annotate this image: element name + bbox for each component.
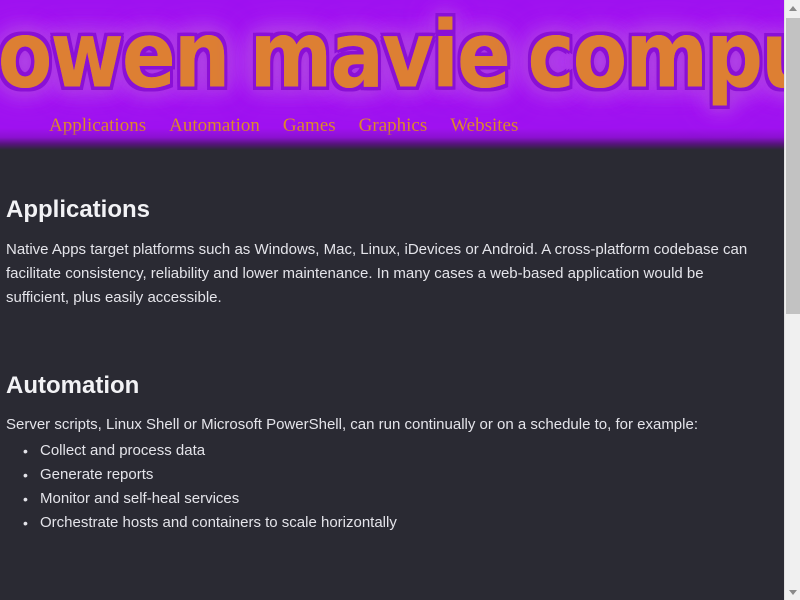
nav-item-websites[interactable]: Websites — [450, 115, 518, 137]
site-logo[interactable]: owenmaviecomputing — [0, 2, 784, 110]
section-applications: Applications Native Apps target platform… — [6, 150, 768, 310]
triangle-up-icon — [789, 6, 797, 11]
scrollbar-down-button[interactable] — [785, 584, 800, 600]
automation-task-list: Collect and process data Generate report… — [6, 437, 768, 535]
site-banner: owenmaviecomputing Applications Automati… — [0, 0, 784, 150]
main-content: Applications Native Apps target platform… — [0, 150, 784, 535]
main-navigation: Applications Automation Games Graphics W… — [49, 112, 518, 140]
triangle-down-icon — [789, 590, 797, 595]
section-body-automation: Server scripts, Linux Shell or Microsoft… — [6, 399, 768, 437]
list-item: Collect and process data — [40, 439, 768, 463]
nav-item-automation[interactable]: Automation — [169, 115, 260, 137]
nav-item-graphics[interactable]: Graphics — [359, 115, 428, 137]
vertical-scrollbar[interactable] — [784, 0, 800, 600]
scrollbar-up-button[interactable] — [785, 0, 800, 16]
nav-item-applications[interactable]: Applications — [49, 115, 146, 137]
section-body-applications: Native Apps target platforms such as Win… — [6, 224, 768, 310]
section-automation: Automation Server scripts, Linux Shell o… — [6, 310, 768, 536]
list-item: Orchestrate hosts and containers to scal… — [40, 511, 768, 535]
page-root: owenmaviecomputing Applications Automati… — [0, 0, 800, 600]
section-heading-automation: Automation — [6, 372, 768, 400]
list-item: Generate reports — [40, 463, 768, 487]
logo-word-owen: owen — [0, 0, 228, 120]
browser-viewport: owenmaviecomputing Applications Automati… — [0, 0, 784, 600]
section-heading-applications: Applications — [6, 196, 768, 224]
logo-word-computing: computing — [528, 0, 784, 120]
list-item: Monitor and self-heal services — [40, 487, 768, 511]
logo-word-mavie: mavie — [250, 0, 509, 120]
scrollbar-thumb[interactable] — [786, 18, 800, 314]
nav-item-games[interactable]: Games — [283, 115, 336, 137]
